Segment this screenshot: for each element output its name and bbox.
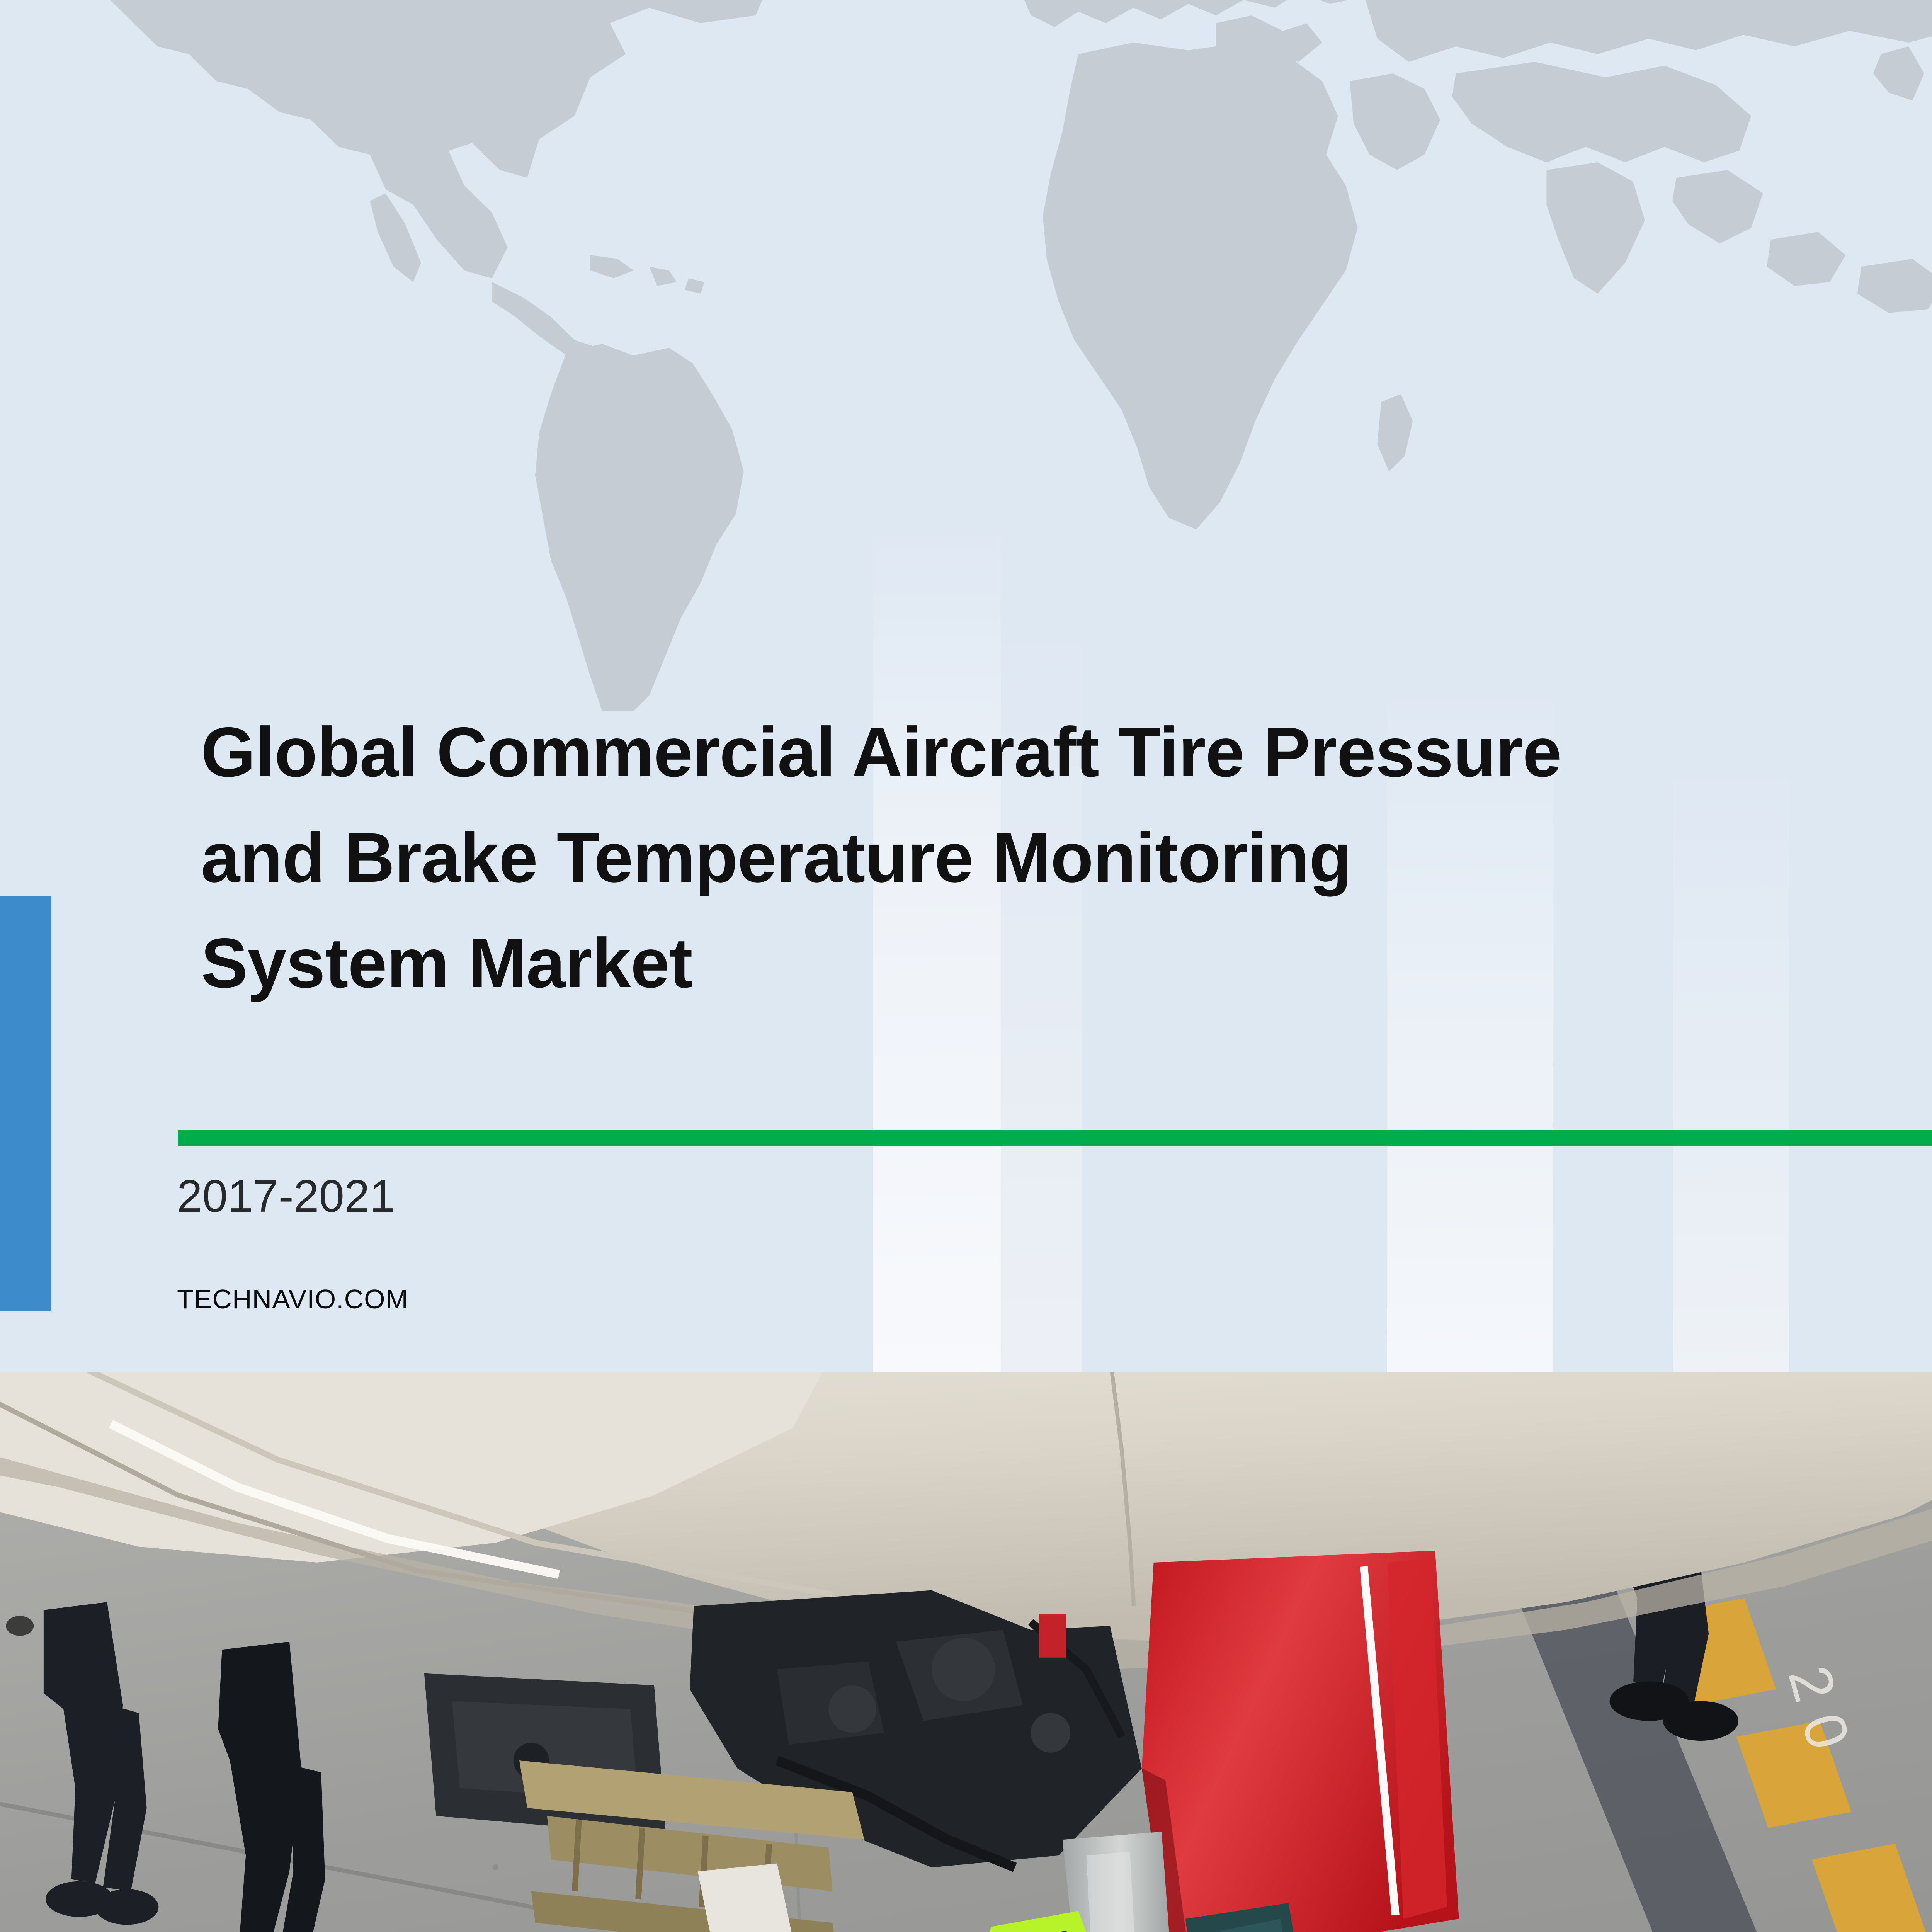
- left-blue-accent-block: [0, 896, 51, 1311]
- green-divider-rule: [178, 1130, 1932, 1146]
- source-website: TECHNAVIO.COM: [177, 1284, 408, 1315]
- cover-header-panel: Global Commercial Aircraft Tire Pressure…: [0, 0, 1932, 1372]
- report-cover-page: Global Commercial Aircraft Tire Pressure…: [0, 0, 1932, 1932]
- cover-photograph: 2 0 A 316: [0, 1372, 1932, 1932]
- world-map-watermark-icon: [0, 0, 1932, 711]
- report-period: 2017-2021: [177, 1170, 395, 1223]
- page-title: Global Commercial Aircraft Tire Pressure…: [201, 699, 1862, 1016]
